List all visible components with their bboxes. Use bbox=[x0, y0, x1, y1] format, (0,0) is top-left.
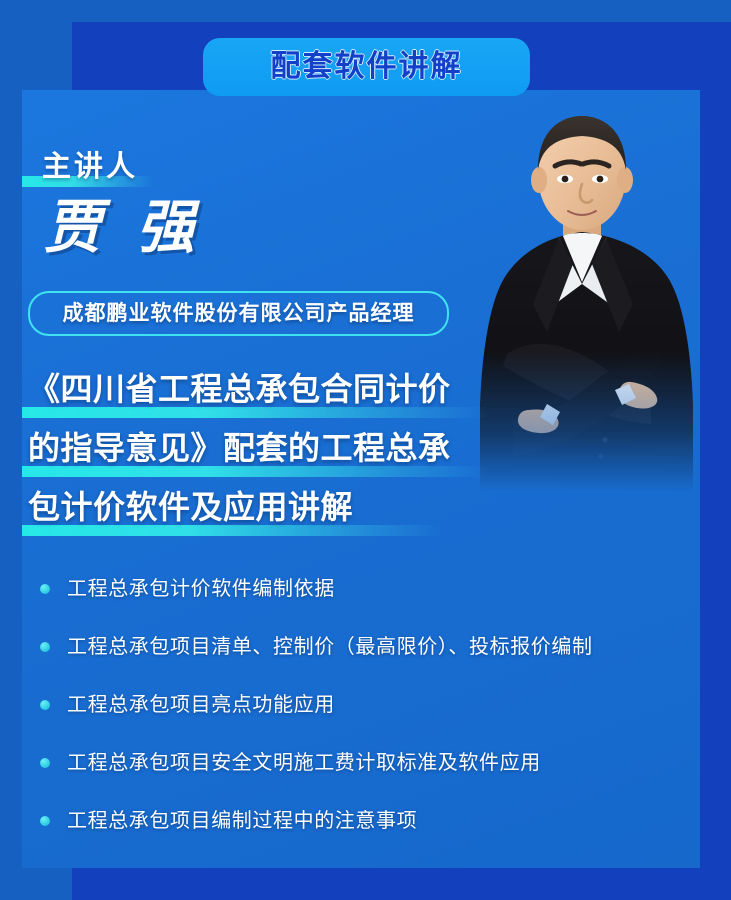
agenda-item-label: 工程总承包项目编制过程中的注意事项 bbox=[67, 811, 417, 831]
list-item: 工程总承包计价软件编制依据 bbox=[40, 560, 705, 618]
list-item: 工程总承包项目编制过程中的注意事项 bbox=[40, 792, 705, 850]
bullet-dot-icon bbox=[40, 758, 50, 768]
main-title-line-text: 的指导意见》配套的工程总承 bbox=[28, 423, 488, 473]
agenda-list: 工程总承包计价软件编制依据 工程总承包项目清单、控制价（最高限价）、投标报价编制… bbox=[40, 560, 705, 850]
speaker-name: 贾 强 bbox=[44, 196, 205, 260]
header-badge: 配套软件讲解 bbox=[203, 38, 530, 96]
main-title-line: 《四川省工程总承包合同计价 bbox=[28, 364, 488, 423]
list-item: 工程总承包项目安全文明施工费计取标准及软件应用 bbox=[40, 734, 705, 792]
speaker-company-title: 成都鹏业软件股份有限公司产品经理 bbox=[63, 303, 415, 324]
main-title-line-text: 《四川省工程总承包合同计价 bbox=[28, 364, 488, 414]
agenda-item-label: 工程总承包计价软件编制依据 bbox=[67, 579, 335, 599]
agenda-item-label: 工程总承包项目安全文明施工费计取标准及软件应用 bbox=[67, 753, 541, 773]
main-title-line: 包计价软件及应用讲解 bbox=[28, 482, 488, 541]
main-title-line-text: 包计价软件及应用讲解 bbox=[28, 482, 488, 532]
bullet-dot-icon bbox=[40, 642, 50, 652]
bullet-dot-icon bbox=[40, 816, 50, 826]
course-poster: 配套软件讲解 主讲人 贾 强 成都鹏业软件股份有限公司产品经理 《四川省工程总承… bbox=[0, 0, 731, 900]
header-badge-label: 配套软件讲解 bbox=[271, 52, 463, 82]
main-title: 《四川省工程总承包合同计价 的指导意见》配套的工程总承 包计价软件及应用讲解 bbox=[28, 364, 488, 541]
bullet-dot-icon bbox=[40, 700, 50, 710]
speaker-role-label: 主讲人 bbox=[42, 143, 138, 185]
main-title-line: 的指导意见》配套的工程总承 bbox=[28, 423, 488, 482]
speaker-company-pill: 成都鹏业软件股份有限公司产品经理 bbox=[28, 291, 449, 336]
agenda-item-label: 工程总承包项目清单、控制价（最高限价）、投标报价编制 bbox=[67, 637, 593, 657]
agenda-item-label: 工程总承包项目亮点功能应用 bbox=[67, 695, 335, 715]
bullet-dot-icon bbox=[40, 584, 50, 594]
list-item: 工程总承包项目清单、控制价（最高限价）、投标报价编制 bbox=[40, 618, 705, 676]
list-item: 工程总承包项目亮点功能应用 bbox=[40, 676, 705, 734]
